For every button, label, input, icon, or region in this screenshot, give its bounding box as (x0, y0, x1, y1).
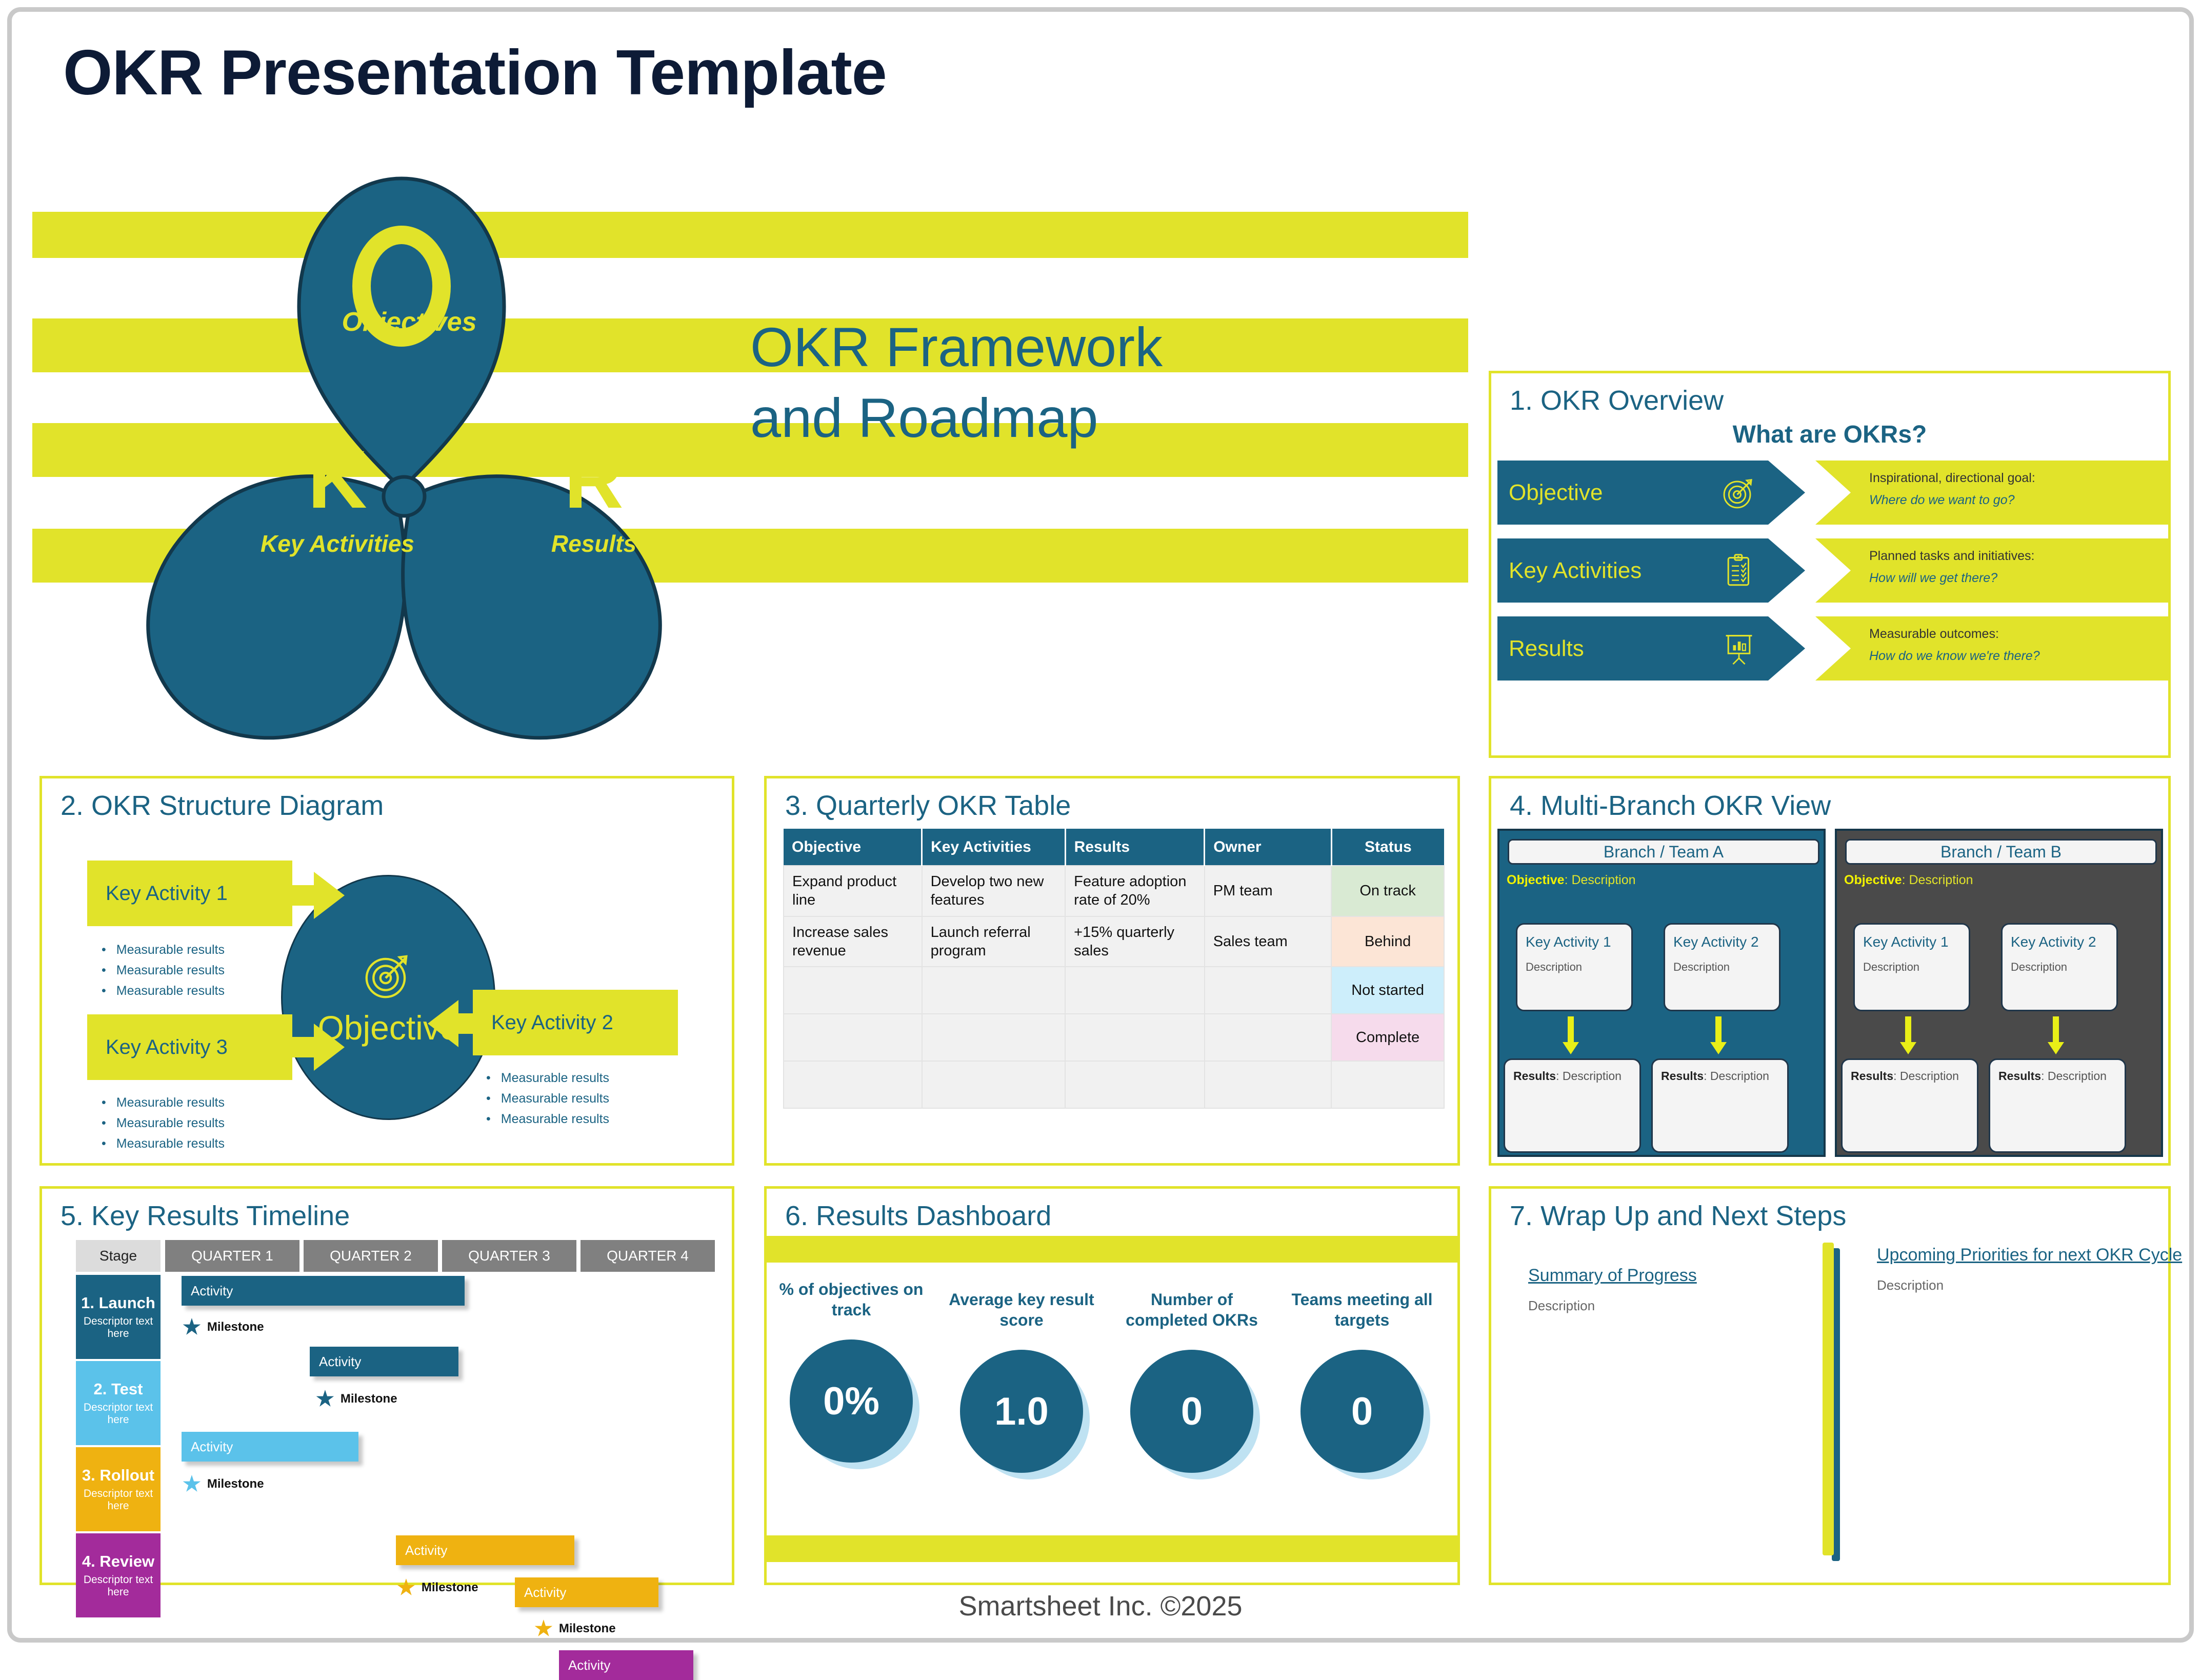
key-activity-2-bullets: Measurable results Measurable results Me… (486, 1071, 609, 1132)
cell-owner: PM team (1205, 866, 1332, 916)
stage-1-name: 1. Launch (81, 1294, 155, 1312)
stage-1-descriptor: Descriptor text here (76, 1315, 161, 1340)
cell-owner: Sales team (1205, 916, 1332, 967)
dashboard-top-bar (767, 1236, 1457, 1263)
key-activity-1-label: Key Activity 1 (106, 882, 228, 905)
overview-row-objective[interactable]: Objective Inspirational, directional goa… (1497, 461, 2169, 525)
status-badge: Not started (1331, 967, 1444, 1014)
clipboard-checklist-icon (1720, 552, 1758, 590)
overview-key-activities-line1: Planned tasks and initiatives: (1869, 549, 2169, 564)
wrapup-priorities-heading[interactable]: Upcoming Priorities for next OKR Cycle (1877, 1245, 2164, 1265)
branch-a-results-2[interactable]: Results: Description (1651, 1058, 1789, 1153)
branch-b-activity-2[interactable]: Key Activity 2 Description (2001, 923, 2118, 1011)
what-are-okrs-heading: What are OKRs? (1491, 421, 2168, 449)
star-icon: ★ (316, 1389, 334, 1409)
branch-a-activity-2-title: Key Activity 2 (1673, 934, 1771, 950)
branch-b-activity-1-title: Key Activity 1 (1863, 934, 1960, 950)
presentation-chart-icon (1720, 630, 1758, 668)
section3-title: 3. Quarterly OKR Table (785, 790, 1071, 822)
kpi-4-label: Teams meeting all targets (1288, 1289, 1436, 1330)
branch-b-results-2[interactable]: Results: Description (1989, 1058, 2126, 1153)
section-multi-branch-okr-view: 4. Multi-Branch OKR View Branch / Team A… (1489, 776, 2171, 1166)
hero-heading-line2: and Roadmap (750, 383, 1163, 453)
stage-2-descriptor: Descriptor text here (76, 1402, 161, 1426)
timeline-quarter-2-header: QUARTER 2 (304, 1240, 438, 1272)
timeline-stage-launch[interactable]: 1. Launch Descriptor text here (76, 1275, 161, 1359)
wrapup-divider-yellow (1823, 1243, 1834, 1555)
timeline-quarter-4-header: QUARTER 4 (581, 1240, 715, 1272)
timeline-milestone-1-label: Milestone (207, 1320, 264, 1334)
key-activity-2-box[interactable]: Key Activity 2 (473, 990, 678, 1055)
wrapup-priorities-description: Description (1877, 1277, 2164, 1293)
kpi-4-value: 0 (1300, 1350, 1424, 1473)
overview-row-key-activities[interactable]: Key Activities Planned tasks and initiat… (1497, 538, 2169, 603)
branch-b-name: Branch / Team B (1845, 839, 2157, 865)
hero-heading-line1: OKR Framework (750, 312, 1163, 383)
kpi-objectives-on-track[interactable]: % of objectives on track 0% (777, 1279, 926, 1463)
table-row[interactable]: Expand product line Develop two new feat… (784, 866, 1444, 916)
overview-results-line2: How do we know we're there? (1869, 649, 2169, 664)
cell-objective (784, 967, 922, 1014)
arrow-left-ka2-icon (428, 1000, 489, 1047)
branch-a-objective-label: Objective (1507, 873, 1565, 887)
ka1-bullet-2: Measurable results (102, 963, 225, 978)
quarterly-okr-table: Objective Key Activities Results Owner S… (783, 829, 1445, 1109)
stage-3-name: 3. Rollout (82, 1466, 154, 1485)
branch-a-activity-1[interactable]: Key Activity 1 Description (1516, 923, 1633, 1011)
ka3-bullet-2: Measurable results (102, 1116, 225, 1131)
kpi-completed-okrs[interactable]: Number of completed OKRs 0 (1117, 1289, 1266, 1473)
branch-b-results-1[interactable]: Results: Description (1841, 1058, 1978, 1153)
status-badge (1331, 1061, 1444, 1108)
overview-label-results: Results (1509, 636, 1584, 662)
star-icon: ★ (183, 1474, 201, 1494)
section2-title: 2. OKR Structure Diagram (61, 790, 384, 822)
key-activity-1-box[interactable]: Key Activity 1 (87, 861, 292, 926)
cell-key-activities (922, 1014, 1066, 1061)
arrow-down-b1-icon (1898, 1016, 1918, 1054)
branch-a-activity-2[interactable]: Key Activity 2 Description (1664, 923, 1780, 1011)
timeline-bar-4[interactable]: Activity (396, 1535, 574, 1565)
branch-a-objective: Objective: Description (1507, 873, 1636, 888)
arrow-down-b2-icon (2046, 1016, 2066, 1054)
status-badge: On track (1331, 866, 1444, 916)
status-badge: Complete (1331, 1014, 1444, 1061)
section7-title: 7. Wrap Up and Next Steps (1510, 1200, 1846, 1232)
timeline-stage-header: Stage (76, 1240, 161, 1272)
kpi-average-key-result-score[interactable]: Average key result score 1.0 (947, 1289, 1096, 1473)
table-row[interactable]: Not started (784, 967, 1444, 1014)
kpi-3-label: Number of completed OKRs (1117, 1289, 1266, 1330)
overview-row-results-label-chip: Results (1497, 616, 1805, 681)
branch-a-results-2-value: Description (1710, 1069, 1769, 1083)
status-badge: Behind (1331, 916, 1444, 967)
timeline-stage-rollout[interactable]: 3. Rollout Descriptor text here (76, 1447, 161, 1531)
branch-b-activity-1-desc: Description (1863, 961, 1960, 974)
branch-b-objective: Objective: Description (1844, 873, 1973, 888)
overview-key-activities-line2: How will we get there? (1869, 571, 2169, 586)
hero-heading: OKR Framework and Roadmap (750, 312, 1163, 453)
section1-title: 1. OKR Overview (1510, 385, 1724, 416)
branch-a-objective-value: Description (1571, 873, 1635, 887)
kpi-1-value: 0% (790, 1339, 913, 1463)
branch-b-objective-label: Objective (1844, 873, 1902, 887)
overview-objective-line1: Inspirational, directional goal: (1869, 471, 2169, 486)
section-okr-structure-diagram: 2. OKR Structure Diagram Objective Key A… (39, 776, 734, 1166)
cell-results (1065, 1014, 1205, 1061)
okr-clover-graphic (94, 137, 725, 753)
timeline-bar-3[interactable]: Activity (182, 1432, 358, 1462)
branch-a-activity-2-desc: Description (1673, 961, 1771, 974)
branch-a-results-1-label: Results (1513, 1069, 1556, 1083)
arrow-down-a1-icon (1561, 1016, 1580, 1054)
cell-key-activities (922, 1061, 1066, 1108)
overview-label-key-activities: Key Activities (1509, 558, 1642, 584)
ka1-bullet-3: Measurable results (102, 984, 225, 998)
col-owner: Owner (1205, 829, 1332, 866)
cell-objective: Expand product line (784, 866, 922, 916)
section5-title: 5. Key Results Timeline (61, 1200, 350, 1232)
overview-row-key-activities-label-chip: Key Activities (1497, 538, 1805, 603)
cell-results: Feature adoption rate of 20% (1065, 866, 1205, 916)
timeline-milestone-2[interactable]: ★ Milestone (316, 1389, 397, 1409)
timeline-milestone-3-label: Milestone (207, 1477, 264, 1491)
cell-owner (1205, 967, 1332, 1014)
section-key-results-timeline: 5. Key Results Timeline Stage QUARTER 1 … (39, 1186, 734, 1585)
overview-objective-line2: Where do we want to go? (1869, 493, 2169, 508)
page-title: OKR Presentation Template (63, 36, 887, 109)
arrow-down-a2-icon (1709, 1016, 1728, 1054)
ka2-bullet-3: Measurable results (486, 1112, 609, 1127)
stage-4-name: 4. Review (82, 1552, 154, 1571)
timeline-bar-2[interactable]: Activity (310, 1347, 458, 1376)
kpi-3-value: 0 (1130, 1350, 1253, 1473)
cell-results (1065, 1061, 1205, 1108)
cell-key-activities (922, 967, 1066, 1014)
wrapup-summary-description: Description (1528, 1298, 1805, 1314)
wrapup-summary-heading[interactable]: Summary of Progress (1528, 1266, 1805, 1286)
key-activity-3-box[interactable]: Key Activity 3 (87, 1014, 292, 1080)
key-activity-2-label: Key Activity 2 (491, 1011, 613, 1034)
timeline-milestone-1[interactable]: ★ Milestone (183, 1317, 264, 1337)
ka3-bullet-1: Measurable results (102, 1095, 225, 1110)
overview-row-results[interactable]: Results Measurable outcomes: How do we k… (1497, 616, 2169, 681)
kpi-teams-meeting-targets[interactable]: Teams meeting all targets 0 (1288, 1289, 1436, 1473)
branch-b-results-2-label: Results (1998, 1069, 2041, 1083)
branch-a-results-2-text: Results: Description (1661, 1069, 1779, 1083)
ka3-bullet-3: Measurable results (102, 1136, 225, 1151)
branch-a-name: Branch / Team A (1508, 839, 1819, 865)
section4-title: 4. Multi-Branch OKR View (1510, 790, 1831, 822)
section6-title: 6. Results Dashboard (785, 1200, 1051, 1232)
arrow-right-ka3-icon (283, 1024, 345, 1071)
kpi-2-value: 1.0 (960, 1350, 1083, 1473)
dashboard-bottom-bar (767, 1535, 1457, 1562)
branch-b-results-1-label: Results (1851, 1069, 1893, 1083)
wrapup-column-priorities[interactable]: Upcoming Priorities for next OKR Cycle D… (1877, 1245, 2164, 1293)
wrapup-column-summary[interactable]: Summary of Progress Description (1528, 1266, 1805, 1314)
col-status: Status (1331, 829, 1444, 866)
col-results: Results (1065, 829, 1205, 866)
table-row[interactable]: Increase sales revenue Launch referral p… (784, 916, 1444, 967)
overview-row-key-activities-desc: Planned tasks and initiatives: How will … (1815, 538, 2169, 603)
key-activity-3-label: Key Activity 3 (106, 1036, 228, 1059)
branch-a-activity-1-title: Key Activity 1 (1526, 934, 1623, 950)
ka1-bullet-1: Measurable results (102, 943, 225, 957)
footer-copyright: Smartsheet Inc. ©2025 (12, 1590, 2189, 1622)
cell-results: +15% quarterly sales (1065, 916, 1205, 967)
branch-a-results-1-value: Description (1563, 1069, 1622, 1083)
branch-b-activity-1[interactable]: Key Activity 1 Description (1853, 923, 1970, 1011)
branch-team-b[interactable]: Branch / Team B Objective: Description K… (1835, 829, 2163, 1157)
timeline-milestone-5-label: Milestone (559, 1622, 616, 1636)
cell-objective (784, 1061, 922, 1108)
overview-row-results-desc: Measurable outcomes: How do we know we'r… (1815, 616, 2169, 681)
slide-canvas: OKR Presentation Template Objectives K K… (7, 7, 2194, 1643)
arrow-right-ka1-icon (283, 872, 345, 919)
kpi-2-label: Average key result score (947, 1289, 1096, 1330)
key-activity-3-bullets: Measurable results Measurable results Me… (102, 1095, 225, 1157)
section-quarterly-okr-table: 3. Quarterly OKR Table Objective Key Act… (764, 776, 1460, 1166)
cell-objective (784, 1014, 922, 1061)
cell-key-activities: Launch referral program (922, 916, 1066, 967)
branch-b-results-1-value: Description (1900, 1069, 1959, 1083)
timeline-stage-test[interactable]: 2. Test Descriptor text here (76, 1361, 161, 1445)
target-icon (361, 948, 416, 1003)
timeline-quarter-3-header: QUARTER 3 (442, 1240, 576, 1272)
branch-a-results-2-label: Results (1661, 1069, 1704, 1083)
overview-label-objective: Objective (1509, 480, 1603, 506)
branch-team-a[interactable]: Branch / Team A Objective: Description K… (1497, 829, 1826, 1157)
branch-a-results-1-text: Results: Description (1513, 1069, 1631, 1083)
kpi-1-label: % of objectives on track (777, 1279, 926, 1320)
timeline-quarter-1-header: QUARTER 1 (165, 1240, 299, 1272)
ka2-bullet-1: Measurable results (486, 1071, 609, 1086)
timeline-milestone-2-label: Milestone (341, 1392, 397, 1406)
col-objective: Objective (784, 829, 922, 866)
branch-b-results-2-value: Description (2048, 1069, 2107, 1083)
overview-row-objective-desc: Inspirational, directional goal: Where d… (1815, 461, 2169, 525)
branch-a-activity-1-desc: Description (1526, 961, 1623, 974)
section-results-dashboard: 6. Results Dashboard % of objectives on … (764, 1186, 1460, 1585)
overview-results-line1: Measurable outcomes: (1869, 627, 2169, 642)
star-icon: ★ (183, 1317, 201, 1337)
branch-b-activity-2-desc: Description (2011, 961, 2108, 974)
stage-3-descriptor: Descriptor text here (76, 1488, 161, 1512)
cell-results (1065, 967, 1205, 1014)
timeline-bar-1[interactable]: Activity (182, 1276, 465, 1306)
branch-b-results-2-text: Results: Description (1998, 1069, 2116, 1083)
section-wrap-up-next-steps: 7. Wrap Up and Next Steps Summary of Pro… (1489, 1186, 2171, 1585)
hero-banner: Objectives K Key Activities R Results OK… (12, 202, 1468, 758)
section-okr-overview: 1. OKR Overview What are OKRs? Objective… (1489, 371, 2171, 758)
ka2-bullet-2: Measurable results (486, 1091, 609, 1106)
cell-objective: Increase sales revenue (784, 916, 922, 967)
branch-b-results-1-text: Results: Description (1851, 1069, 1969, 1083)
branch-b-objective-value: Description (1909, 873, 1973, 887)
target-icon (1720, 474, 1758, 512)
cell-owner (1205, 1014, 1332, 1061)
branch-a-results-1[interactable]: Results: Description (1504, 1058, 1641, 1153)
branch-b-activity-2-title: Key Activity 2 (2011, 934, 2108, 950)
timeline-milestone-3[interactable]: ★ Milestone (183, 1474, 264, 1494)
key-activity-1-bullets: Measurable results Measurable results Me… (102, 943, 225, 1004)
stage-2-name: 2. Test (94, 1380, 143, 1398)
table-row[interactable] (784, 1061, 1444, 1108)
cell-owner (1205, 1061, 1332, 1108)
timeline-bar-6[interactable]: Activity (559, 1650, 693, 1680)
table-row[interactable]: Complete (784, 1014, 1444, 1061)
col-key-activities: Key Activities (922, 829, 1066, 866)
overview-row-objective-label-chip: Objective (1497, 461, 1805, 525)
cell-key-activities: Develop two new features (922, 866, 1066, 916)
table-header-row: Objective Key Activities Results Owner S… (784, 829, 1444, 866)
